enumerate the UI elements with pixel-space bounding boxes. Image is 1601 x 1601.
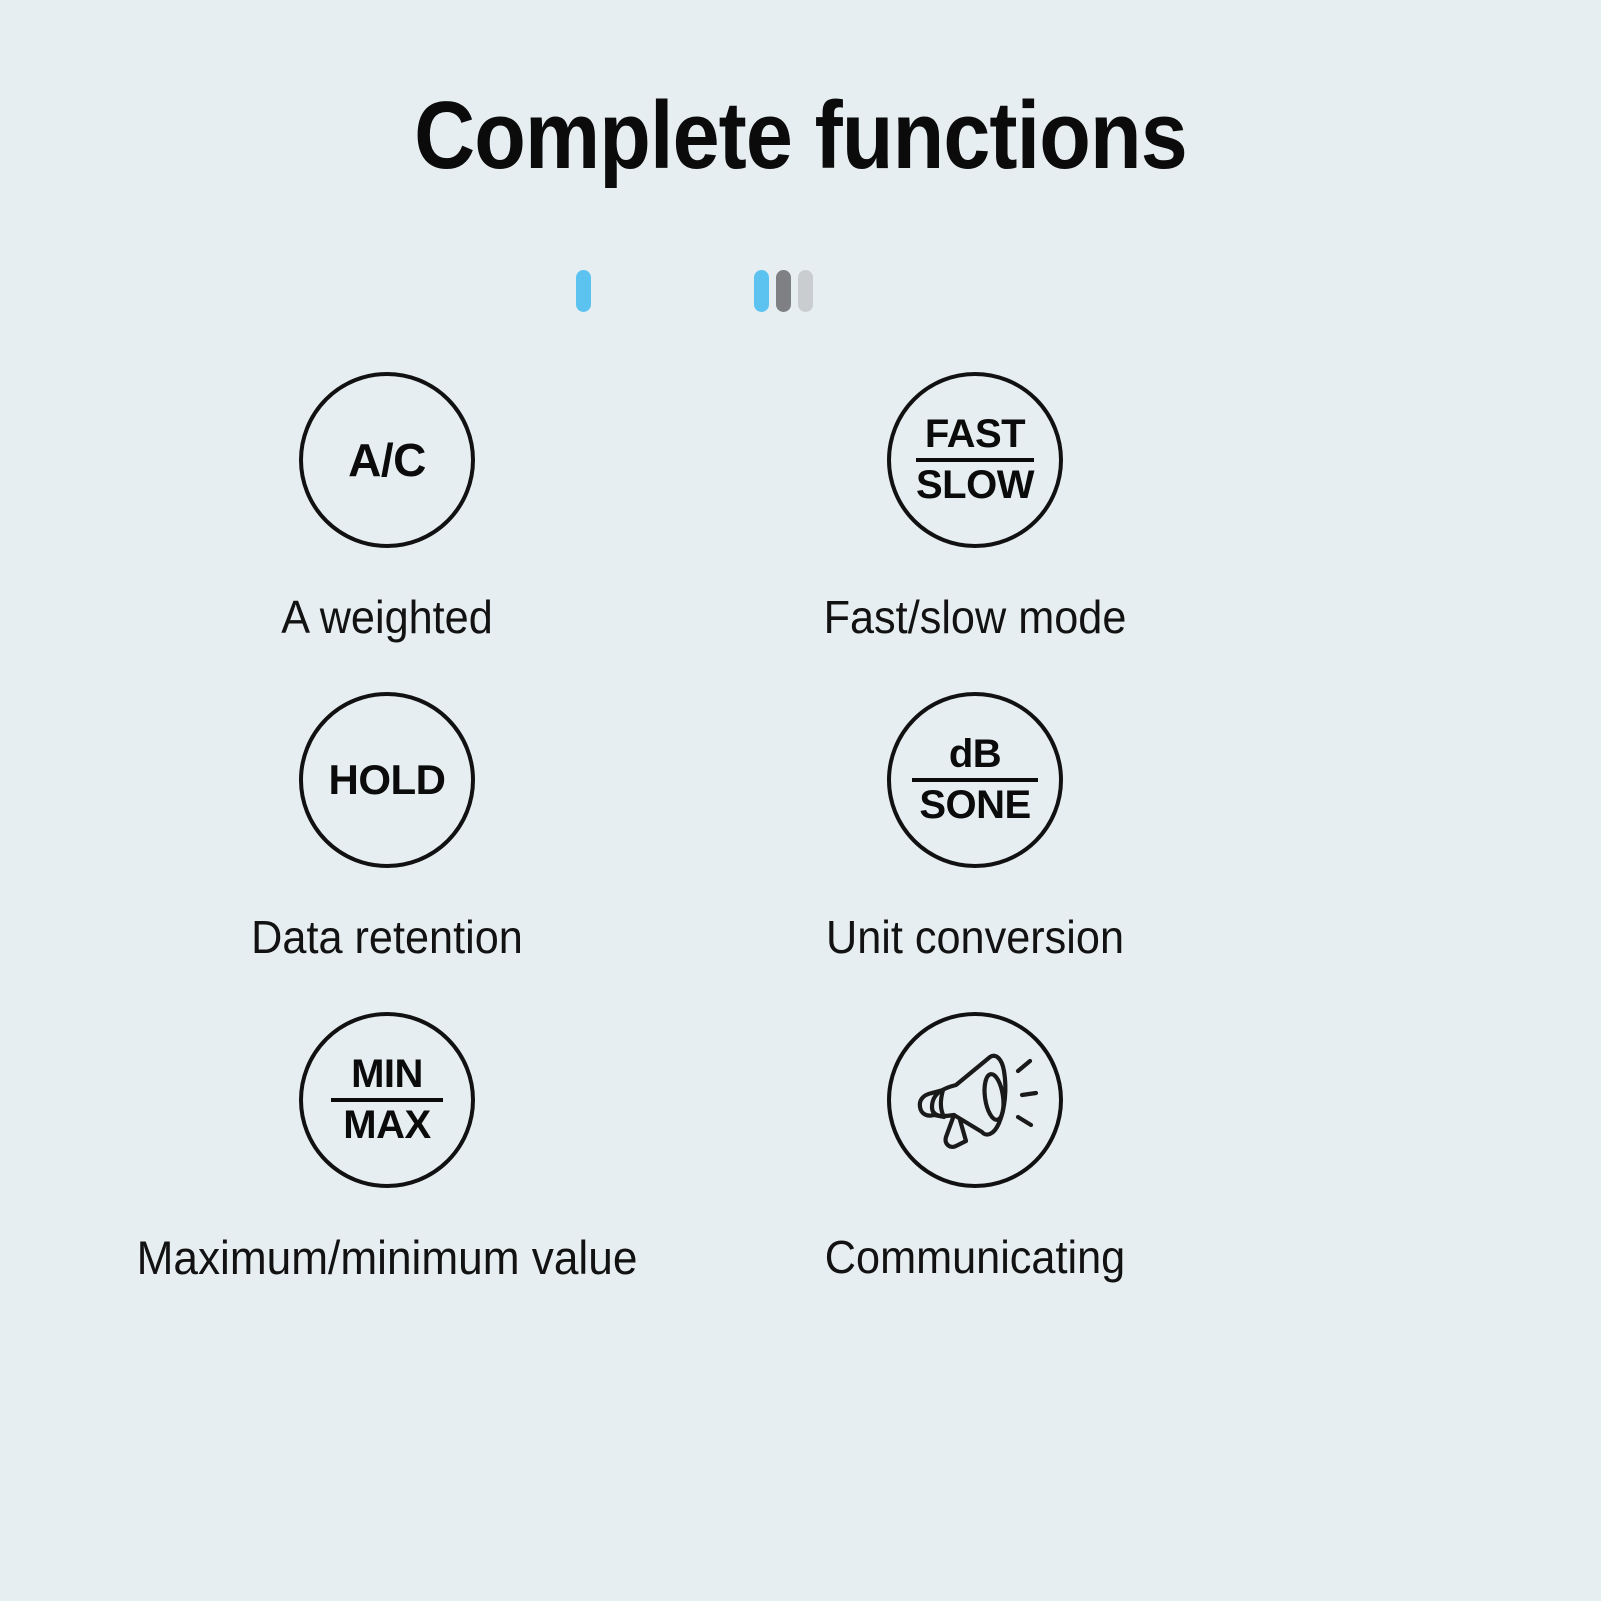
min-max-fraction: MIN MAX <box>331 1054 443 1146</box>
feature-item-unit-conversion[interactable]: dB SONE Unit conversion <box>695 692 1255 963</box>
feature-row: A/C A weighted FAST SLOW Fast/slow mode <box>0 372 1601 692</box>
feature-item-maximum-minimum-value[interactable]: MIN MAX Maximum/minimum value <box>107 1012 667 1284</box>
feature-item-fast-slow-mode[interactable]: FAST SLOW Fast/slow mode <box>695 372 1255 643</box>
megaphone-glyph <box>910 1045 1040 1155</box>
feature-grid: A/C A weighted FAST SLOW Fast/slow mode <box>0 372 1601 1332</box>
db-sone-icon-bottom: SONE <box>919 785 1030 826</box>
bar-marker-group-1 <box>754 270 769 312</box>
bar-marker-group-3 <box>798 270 813 312</box>
hold-icon-label: HOLD <box>329 759 446 801</box>
feature-caption: Maximum/minimum value <box>124 1232 650 1284</box>
hold-icon: HOLD <box>299 692 475 868</box>
feature-caption: Fast/slow mode <box>712 592 1238 643</box>
feature-item-a-weighted[interactable]: A/C A weighted <box>107 372 667 643</box>
db-sone-icon-top: dB <box>949 734 1001 775</box>
feature-caption: Communicating <box>712 1232 1238 1283</box>
ac-icon: A/C <box>299 372 475 548</box>
feature-caption: Data retention <box>124 912 650 963</box>
feature-row: HOLD Data retention dB SONE Unit convers… <box>0 692 1601 1012</box>
fraction-divider <box>912 778 1038 782</box>
feature-item-data-retention[interactable]: HOLD Data retention <box>107 692 667 963</box>
feature-caption: Unit conversion <box>712 912 1238 963</box>
min-max-icon-bottom: MAX <box>343 1105 430 1146</box>
decorative-markers <box>0 270 1601 320</box>
page-title: Complete functions <box>96 88 1505 184</box>
page-root: Complete functions A/C A weighted FAST <box>0 0 1601 1601</box>
bar-marker-single <box>576 270 591 312</box>
min-max-icon-top: MIN <box>351 1054 423 1095</box>
ac-icon-label: A/C <box>348 437 426 483</box>
fast-slow-fraction: FAST SLOW <box>916 414 1034 506</box>
fraction-divider <box>916 458 1034 462</box>
fast-slow-icon-bottom: SLOW <box>916 465 1034 506</box>
bar-marker-group-2 <box>776 270 791 312</box>
min-max-icon: MIN MAX <box>299 1012 475 1188</box>
megaphone-icon <box>887 1012 1063 1188</box>
fast-slow-icon-top: FAST <box>925 414 1025 455</box>
db-sone-icon: dB SONE <box>887 692 1063 868</box>
db-sone-fraction: dB SONE <box>912 734 1038 826</box>
feature-row: MIN MAX Maximum/minimum value <box>0 1012 1601 1332</box>
fraction-divider <box>331 1098 443 1102</box>
feature-item-communicating[interactable]: Communicating <box>695 1012 1255 1283</box>
feature-caption: A weighted <box>124 592 650 643</box>
fast-slow-icon: FAST SLOW <box>887 372 1063 548</box>
